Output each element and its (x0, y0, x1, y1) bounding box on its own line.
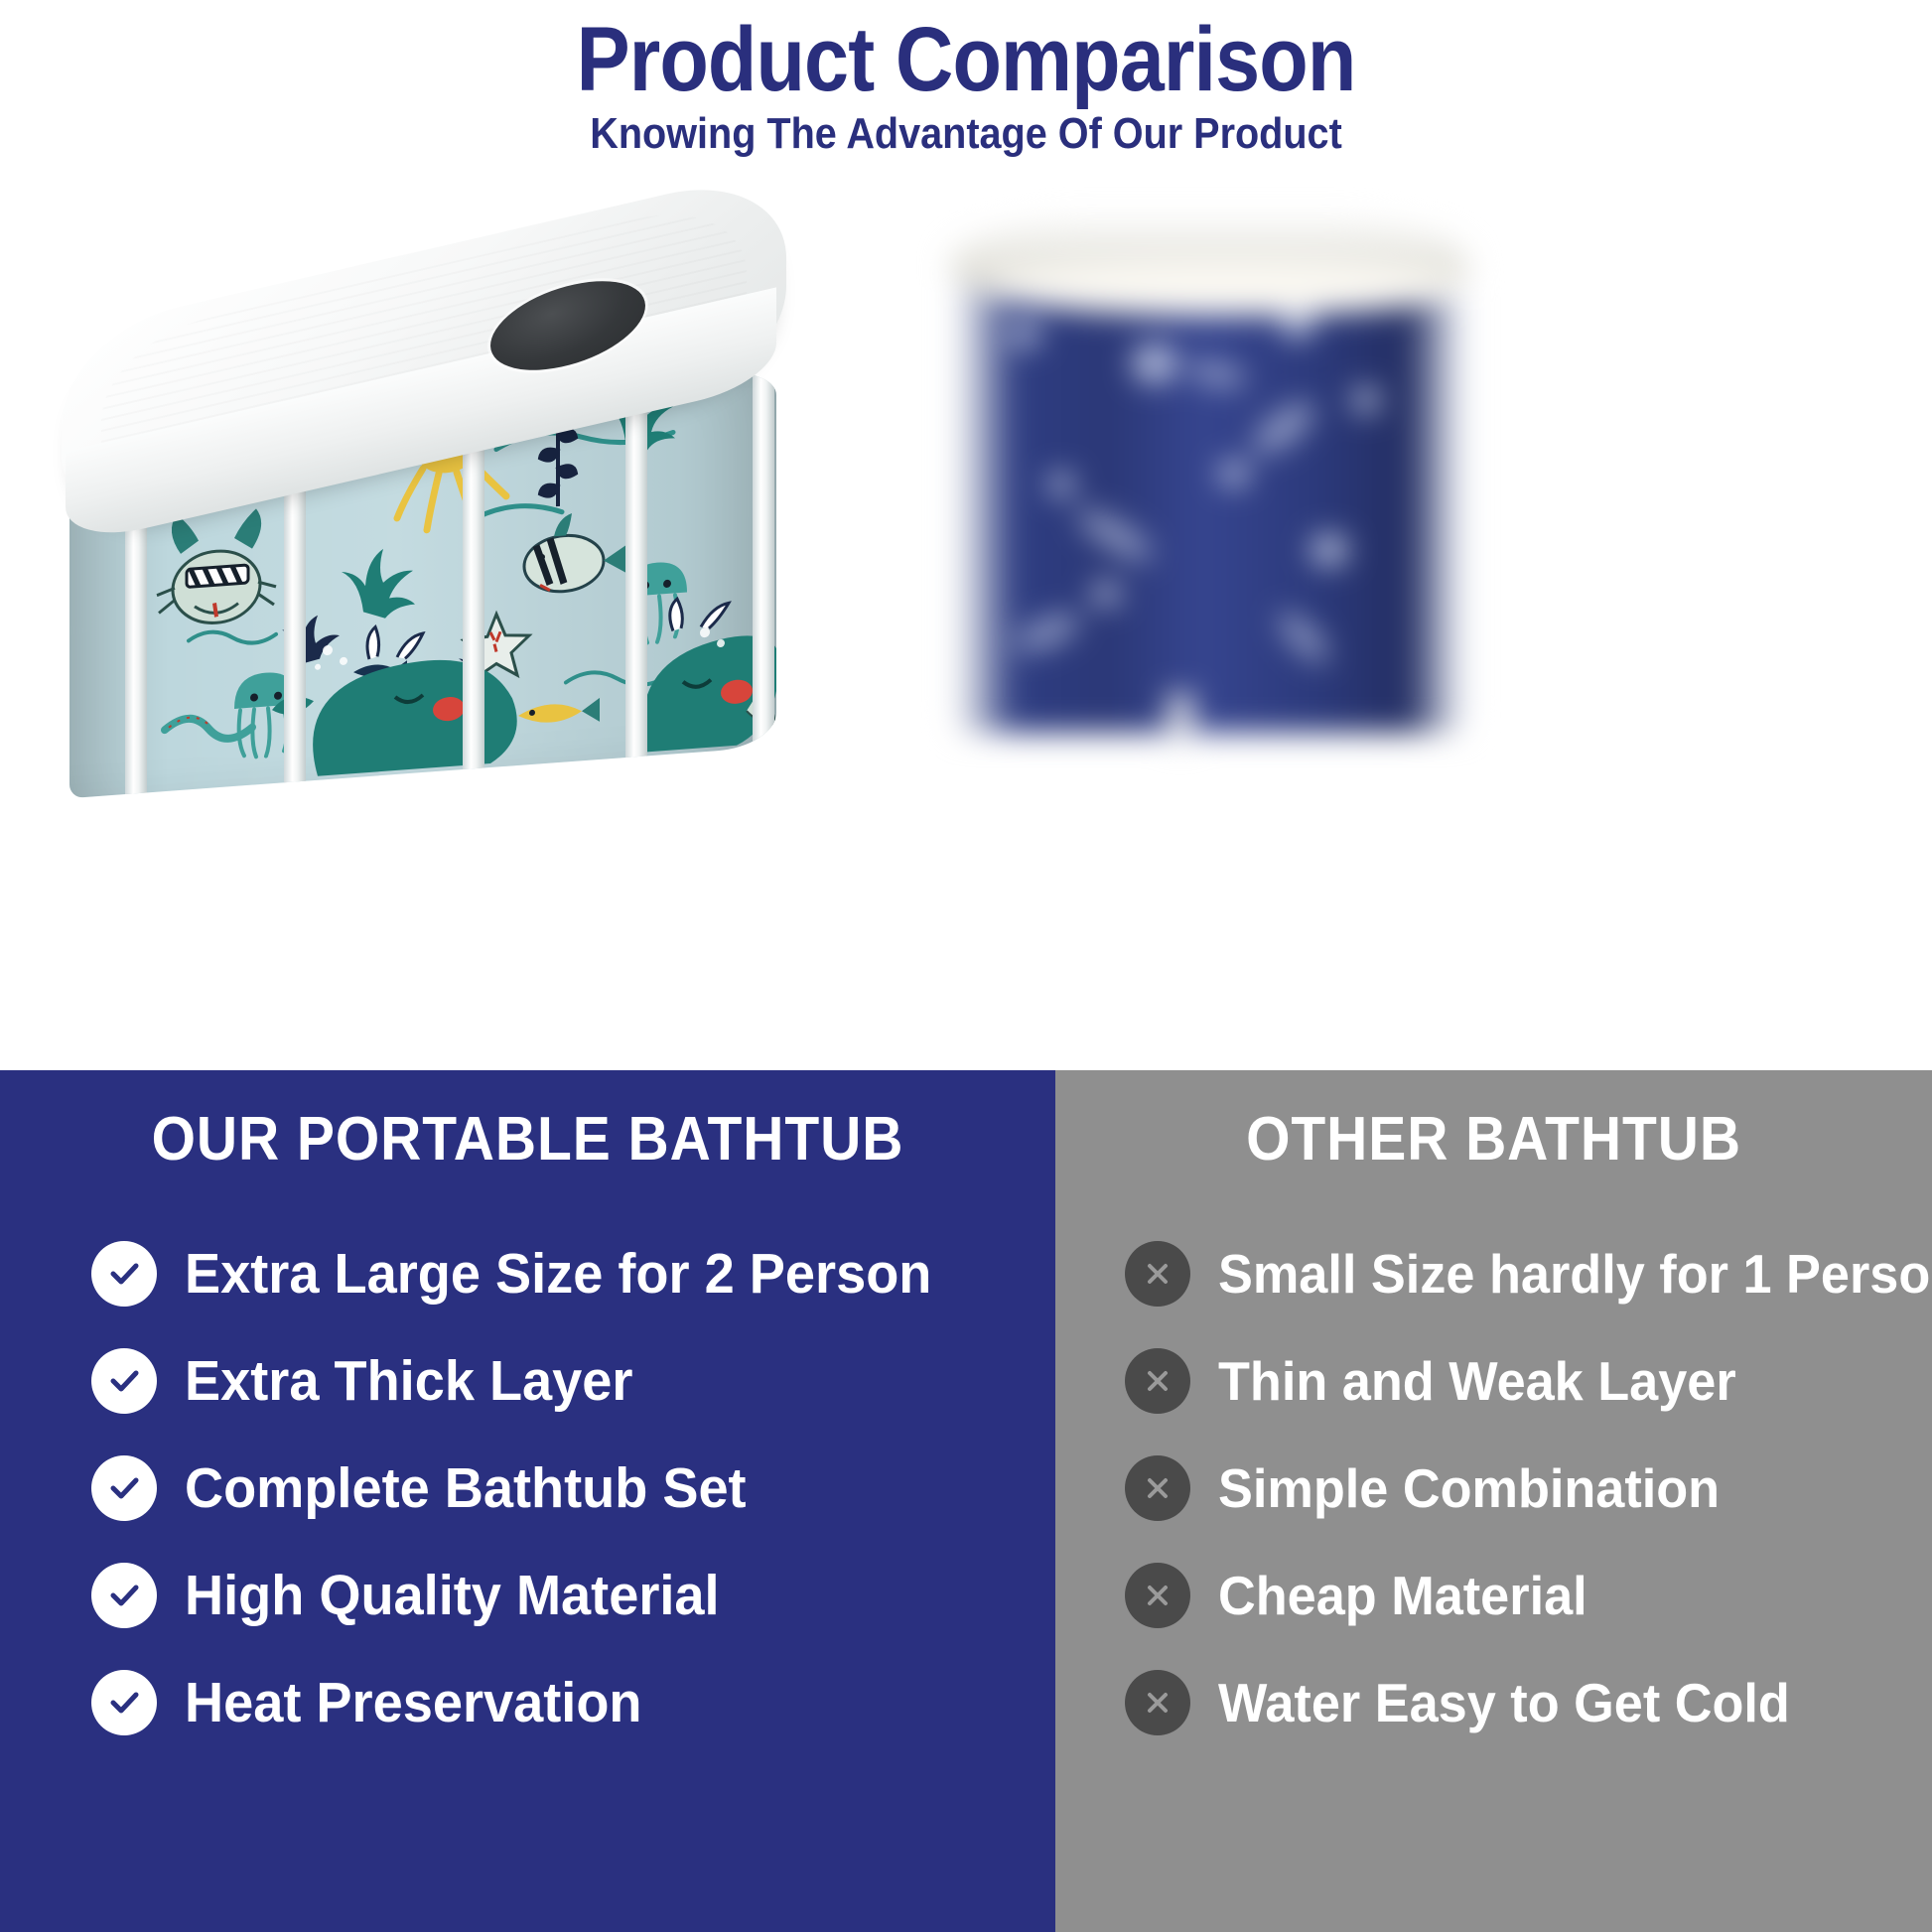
list-item: Heat Preservation (91, 1649, 1028, 1756)
feature-label: Heat Preservation (185, 1675, 641, 1731)
page-subtitle: Knowing The Advantage Of Our Product (96, 111, 1835, 157)
pattern-streak (1072, 501, 1159, 569)
product-images-strip (0, 159, 1932, 1070)
list-item: Thin and Weak Layer (1125, 1327, 1908, 1435)
feature-label: Thin and Weak Layer (1218, 1354, 1736, 1409)
cross-icon (1125, 1455, 1190, 1521)
striped-fish (524, 509, 629, 595)
check-icon (91, 1563, 157, 1628)
pattern-dot (1132, 344, 1177, 383)
list-item: Complete Bathtub Set (91, 1435, 1028, 1542)
our-feature-list: Extra Large Size for 2 Person Extra Thic… (0, 1220, 1055, 1756)
cross-icon (1125, 1563, 1190, 1628)
other-bathtub-image (933, 199, 1529, 794)
pattern-dot (1219, 461, 1249, 486)
cross-icon (1125, 1670, 1190, 1735)
page-header: Product Comparison Knowing The Advantage… (0, 0, 1932, 157)
pattern-dot (1011, 322, 1040, 347)
feature-label: Simple Combination (1218, 1461, 1720, 1516)
other-product-panel: OTHER BATHTUB Small Size hardly for 1 Pe… (1055, 1070, 1932, 1932)
list-item: Extra Thick Layer (91, 1327, 1028, 1435)
check-icon (91, 1670, 157, 1735)
pattern-dot (1048, 473, 1074, 496)
cross-icon (1125, 1241, 1190, 1307)
pattern-streak (1185, 357, 1248, 391)
other-bathtub-foot (1168, 693, 1193, 741)
our-bathtub-image (62, 228, 796, 844)
check-icon (91, 1455, 157, 1521)
other-bathtub-rim (949, 222, 1469, 308)
our-product-panel: OUR PORTABLE BATHTUB Extra Large Size fo… (0, 1070, 1055, 1932)
coral-seaweed (342, 547, 415, 621)
pattern-dot (1311, 534, 1348, 566)
list-item: Cheap Material (1125, 1542, 1908, 1649)
bathtub-lid (62, 250, 786, 498)
pattern-streak (1272, 606, 1334, 669)
feature-label: Complete Bathtub Set (185, 1460, 747, 1517)
list-item: High Quality Material (91, 1542, 1028, 1649)
feature-label: Water Easy to Get Cold (1218, 1676, 1790, 1730)
other-bathtub-interior (989, 262, 1463, 316)
list-item: Water Easy to Get Cold (1125, 1649, 1908, 1756)
list-item: Extra Large Size for 2 Person (91, 1220, 1028, 1327)
check-icon (91, 1348, 157, 1414)
feature-label: Extra Large Size for 2 Person (185, 1246, 931, 1303)
pattern-streak (1246, 393, 1322, 462)
feature-label: Extra Thick Layer (185, 1353, 632, 1410)
cross-icon (1125, 1348, 1190, 1414)
other-panel-heading: OTHER BATHTUB (1090, 1104, 1896, 1174)
feature-label: High Quality Material (185, 1568, 720, 1624)
pattern-dot (1352, 387, 1380, 413)
page-title: Product Comparison (116, 14, 1816, 105)
comparison-panels: OUR PORTABLE BATHTUB Extra Large Size fo… (0, 1070, 1932, 1932)
list-item: Small Size hardly for 1 Person (1125, 1220, 1908, 1327)
other-feature-list: Small Size hardly for 1 Person Thin and … (1055, 1220, 1932, 1756)
check-icon (91, 1241, 157, 1307)
feature-label: Small Size hardly for 1 Person (1218, 1247, 1932, 1302)
feature-label: Cheap Material (1218, 1569, 1587, 1623)
list-item: Simple Combination (1125, 1435, 1908, 1542)
pattern-dot (1092, 582, 1120, 606)
yellow-fish (518, 698, 600, 728)
crab-with-sunglasses (157, 507, 276, 627)
our-panel-heading: OUR PORTABLE BATHTUB (43, 1104, 1014, 1174)
pattern-streak (1011, 607, 1085, 658)
